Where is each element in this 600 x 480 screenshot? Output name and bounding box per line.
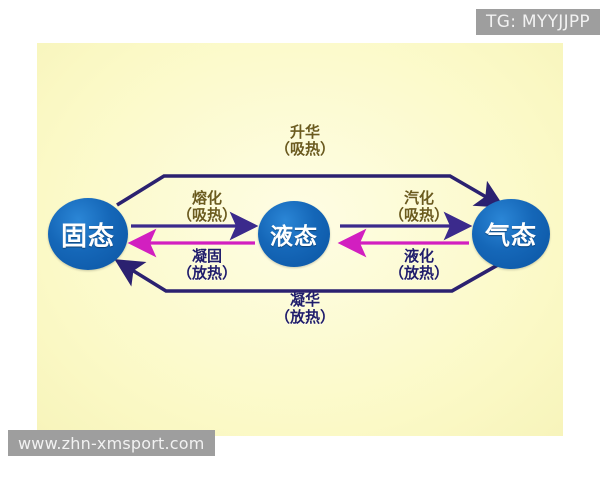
label-deposition: 凝华 （放热） xyxy=(246,292,364,326)
label-vaporization-heat: （吸热） xyxy=(364,207,474,224)
label-sublimation-heat: （吸热） xyxy=(246,141,364,158)
label-sublimation: 升华 （吸热） xyxy=(246,124,364,158)
label-melting: 熔化 （吸热） xyxy=(152,190,262,224)
node-liquid-state[interactable]: 液态 xyxy=(258,201,330,267)
label-liquefaction: 液化 （放热） xyxy=(364,248,474,282)
label-vaporization-name: 汽化 xyxy=(364,190,474,207)
label-liquefaction-name: 液化 xyxy=(364,248,474,265)
label-melting-heat: （吸热） xyxy=(152,207,262,224)
label-deposition-name: 凝华 xyxy=(246,292,364,309)
node-gas-label: 气态 xyxy=(485,216,537,252)
label-solidification-name: 凝固 xyxy=(152,248,262,265)
node-gas-state[interactable]: 气态 xyxy=(472,199,550,269)
label-sublimation-name: 升华 xyxy=(246,124,364,141)
watermark-top-right: TG: MYYJJPP xyxy=(476,9,600,35)
watermark-bottom-left: www.zhn-xmsport.com xyxy=(8,430,215,456)
node-solid-state[interactable]: 固态 xyxy=(48,198,128,270)
label-liquefaction-heat: （放热） xyxy=(364,265,474,282)
label-solidification: 凝固 （放热） xyxy=(152,248,262,282)
node-liquid-label: 液态 xyxy=(270,217,318,251)
node-solid-label: 固态 xyxy=(61,216,115,253)
label-melting-name: 熔化 xyxy=(152,190,262,207)
diagram-canvas: 固态 液态 气态 升华 （吸热） 熔化 （吸热） 汽化 （吸热） 凝固 （放热）… xyxy=(0,0,600,480)
label-solidification-heat: （放热） xyxy=(152,265,262,282)
label-vaporization: 汽化 （吸热） xyxy=(364,190,474,224)
label-deposition-heat: （放热） xyxy=(246,309,364,326)
